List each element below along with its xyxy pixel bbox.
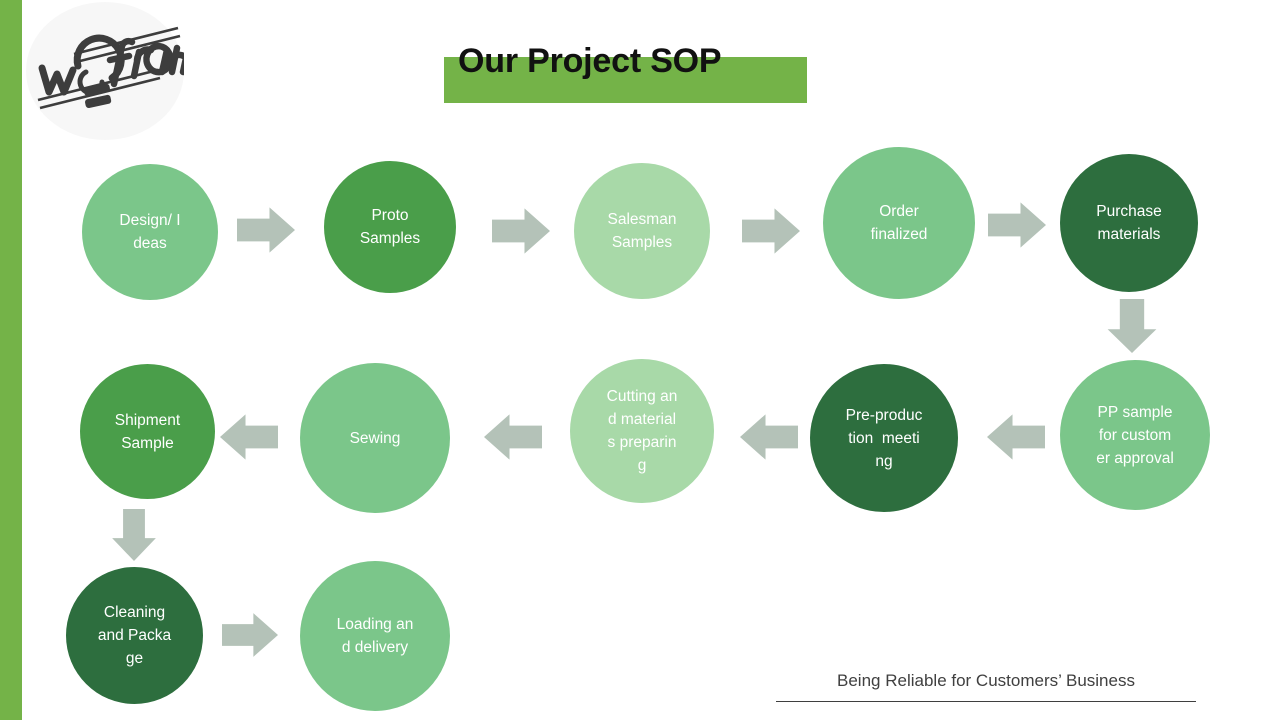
process-node-purchase-materials[interactable]: Purchasematerials (1060, 154, 1198, 292)
process-node-label: Orderfinalized (827, 200, 971, 246)
process-node-label: Purchasematerials (1064, 200, 1194, 246)
process-node-pp-sample-approval[interactable]: PP samplefor customer approval (1060, 360, 1210, 510)
arrow-proto-to-salesman-icon (492, 204, 550, 258)
process-node-label: Sewing (304, 427, 446, 450)
arrow-preprod-to-cutting-icon (740, 410, 798, 464)
process-node-label: Loading and delivery (304, 613, 446, 659)
slide-canvas: Our Project SOP Design/ IdeasProtoSample… (0, 0, 1280, 720)
process-node-cleaning-package[interactable]: Cleaningand Package (66, 567, 203, 704)
process-node-proto-samples[interactable]: ProtoSamples (324, 161, 456, 293)
process-node-design-ideas[interactable]: Design/ Ideas (82, 164, 218, 300)
process-node-label: Pre-production meeting (814, 404, 954, 473)
process-node-sewing[interactable]: Sewing (300, 363, 450, 513)
arrow-ppsample-to-preprod-icon (987, 410, 1045, 464)
arrow-cleaning-to-loading-icon (222, 609, 278, 661)
arrow-purchase-to-ppsample-icon (1103, 299, 1161, 353)
process-node-cutting-materials[interactable]: Cutting and materials preparing (570, 359, 714, 503)
arrow-shipment-to-cleaning-icon (108, 509, 160, 561)
process-node-loading-delivery[interactable]: Loading and delivery (300, 561, 450, 711)
left-accent-bar (0, 0, 22, 720)
process-node-label: ProtoSamples (328, 204, 452, 250)
process-node-label: ShipmentSample (84, 409, 211, 455)
arrow-design-to-proto-icon (237, 203, 295, 257)
process-node-shipment-sample[interactable]: ShipmentSample (80, 364, 215, 499)
process-node-order-finalized[interactable]: Orderfinalized (823, 147, 975, 299)
arrow-cutting-to-sewing-icon (484, 410, 542, 464)
process-node-pre-production[interactable]: Pre-production meeting (810, 364, 958, 512)
arrow-order-to-purchase-icon (988, 198, 1046, 252)
footer-divider (776, 701, 1196, 702)
process-node-label: Cleaningand Package (70, 601, 199, 670)
arrow-salesman-to-order-icon (742, 204, 800, 258)
process-node-label: SalesmanSamples (578, 208, 706, 254)
process-node-label: Design/ Ideas (86, 209, 214, 255)
process-node-label: PP samplefor customer approval (1064, 401, 1206, 470)
page-title: Our Project SOP (458, 38, 978, 84)
logo-lightbulb-icon (26, 2, 184, 140)
wofram-logo (26, 2, 184, 140)
process-node-label: Cutting and materials preparing (574, 385, 710, 477)
arrow-sewing-to-shipment-icon (220, 410, 278, 464)
footer-tagline: Being Reliable for Customers’ Business (776, 671, 1196, 691)
process-node-salesman-samples[interactable]: SalesmanSamples (574, 163, 710, 299)
